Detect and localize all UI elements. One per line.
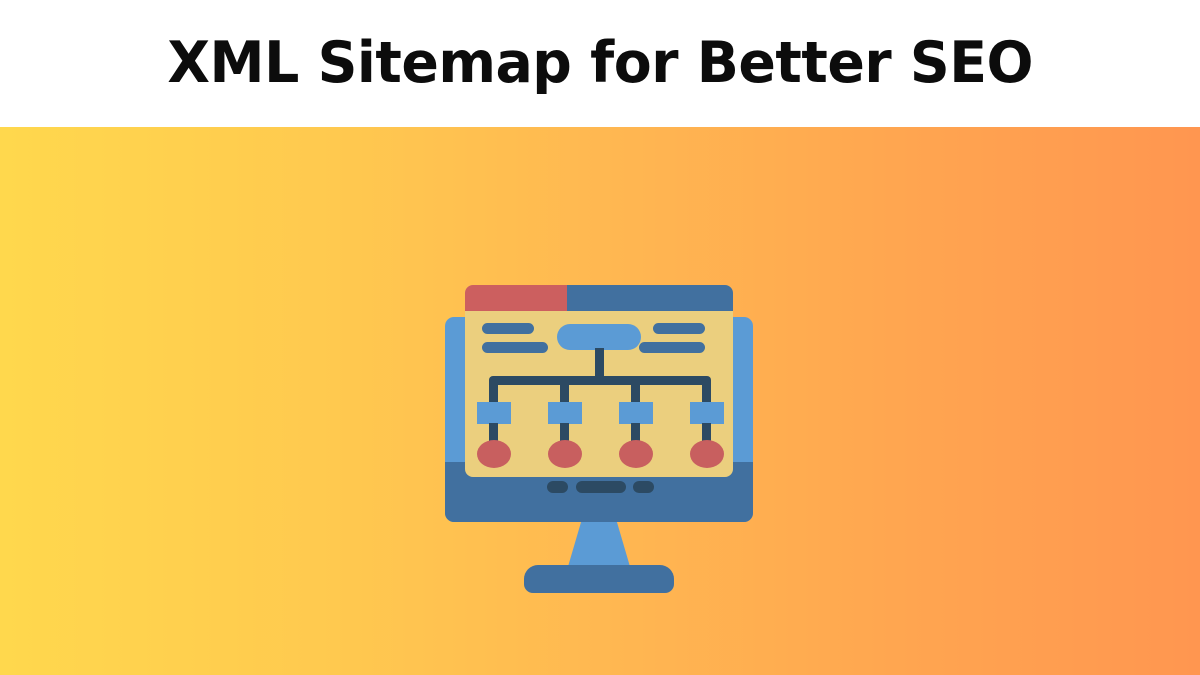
- monitor-stand-neck: [567, 522, 631, 570]
- sitemap-page-node-1: [477, 402, 511, 424]
- monitor-stand-base: [524, 565, 674, 593]
- hero-banner: [0, 127, 1200, 675]
- sitemap-leaf-node-3: [619, 440, 653, 468]
- sitemap-leaf-node-1: [477, 440, 511, 468]
- sitemap-monitor-illustration: [443, 280, 755, 600]
- sitemap-leaf-node-4: [690, 440, 724, 468]
- bezel-button-middle-icon: [576, 481, 626, 493]
- text-bar-right-1: [653, 323, 705, 334]
- page-root: XML Sitemap for Better SEO: [0, 0, 1200, 675]
- text-bar-left-2: [482, 342, 548, 353]
- sitemap-leaf-node-2: [548, 440, 582, 468]
- sitemap-page-node-3: [619, 402, 653, 424]
- page-title: XML Sitemap for Better SEO: [167, 35, 1033, 92]
- connector-root-stem: [595, 348, 604, 378]
- header-band: XML Sitemap for Better SEO: [0, 0, 1200, 127]
- sitemap-page-node-2: [548, 402, 582, 424]
- text-bar-left-1: [482, 323, 534, 334]
- sitemap-root-node: [557, 324, 641, 350]
- bezel-button-right-icon: [633, 481, 654, 493]
- topbar-segment-blue: [567, 285, 733, 311]
- sitemap-page-node-4: [690, 402, 724, 424]
- topbar-segment-red: [465, 285, 567, 311]
- connector-horizontal-bar: [489, 376, 711, 385]
- text-bar-right-2: [639, 342, 705, 353]
- bezel-button-left-icon: [547, 481, 568, 493]
- screen-topbar: [465, 285, 733, 311]
